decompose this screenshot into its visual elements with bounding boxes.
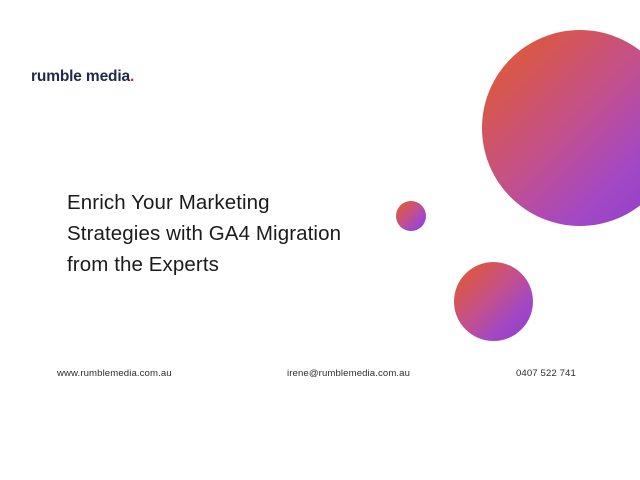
brand-logo[interactable]: rumble media. <box>31 69 134 85</box>
headline-line-1: Enrich Your Marketing <box>67 187 397 218</box>
medium-gradient-circle-decoration <box>454 262 533 341</box>
brand-logo-text: rumble media <box>31 68 130 85</box>
headline-line-2: Strategies with GA4 Migration <box>67 218 397 249</box>
headline: Enrich Your Marketing Strategies with GA… <box>67 187 397 280</box>
marketing-slide: rumble media. Enrich Your Marketing Stra… <box>0 0 640 480</box>
contact-footer: www.rumblemedia.com.au irene@rumblemedia… <box>0 366 640 382</box>
footer-phone-number[interactable]: 0407 522 741 <box>516 366 576 382</box>
headline-line-3: from the Experts <box>67 249 397 280</box>
footer-website-link[interactable]: www.rumblemedia.com.au <box>57 366 172 382</box>
large-gradient-circle-decoration <box>482 30 640 226</box>
small-gradient-circle-decoration <box>396 201 426 231</box>
brand-logo-dot: . <box>130 68 134 85</box>
footer-email-link[interactable]: irene@rumblemedia.com.au <box>287 366 410 382</box>
